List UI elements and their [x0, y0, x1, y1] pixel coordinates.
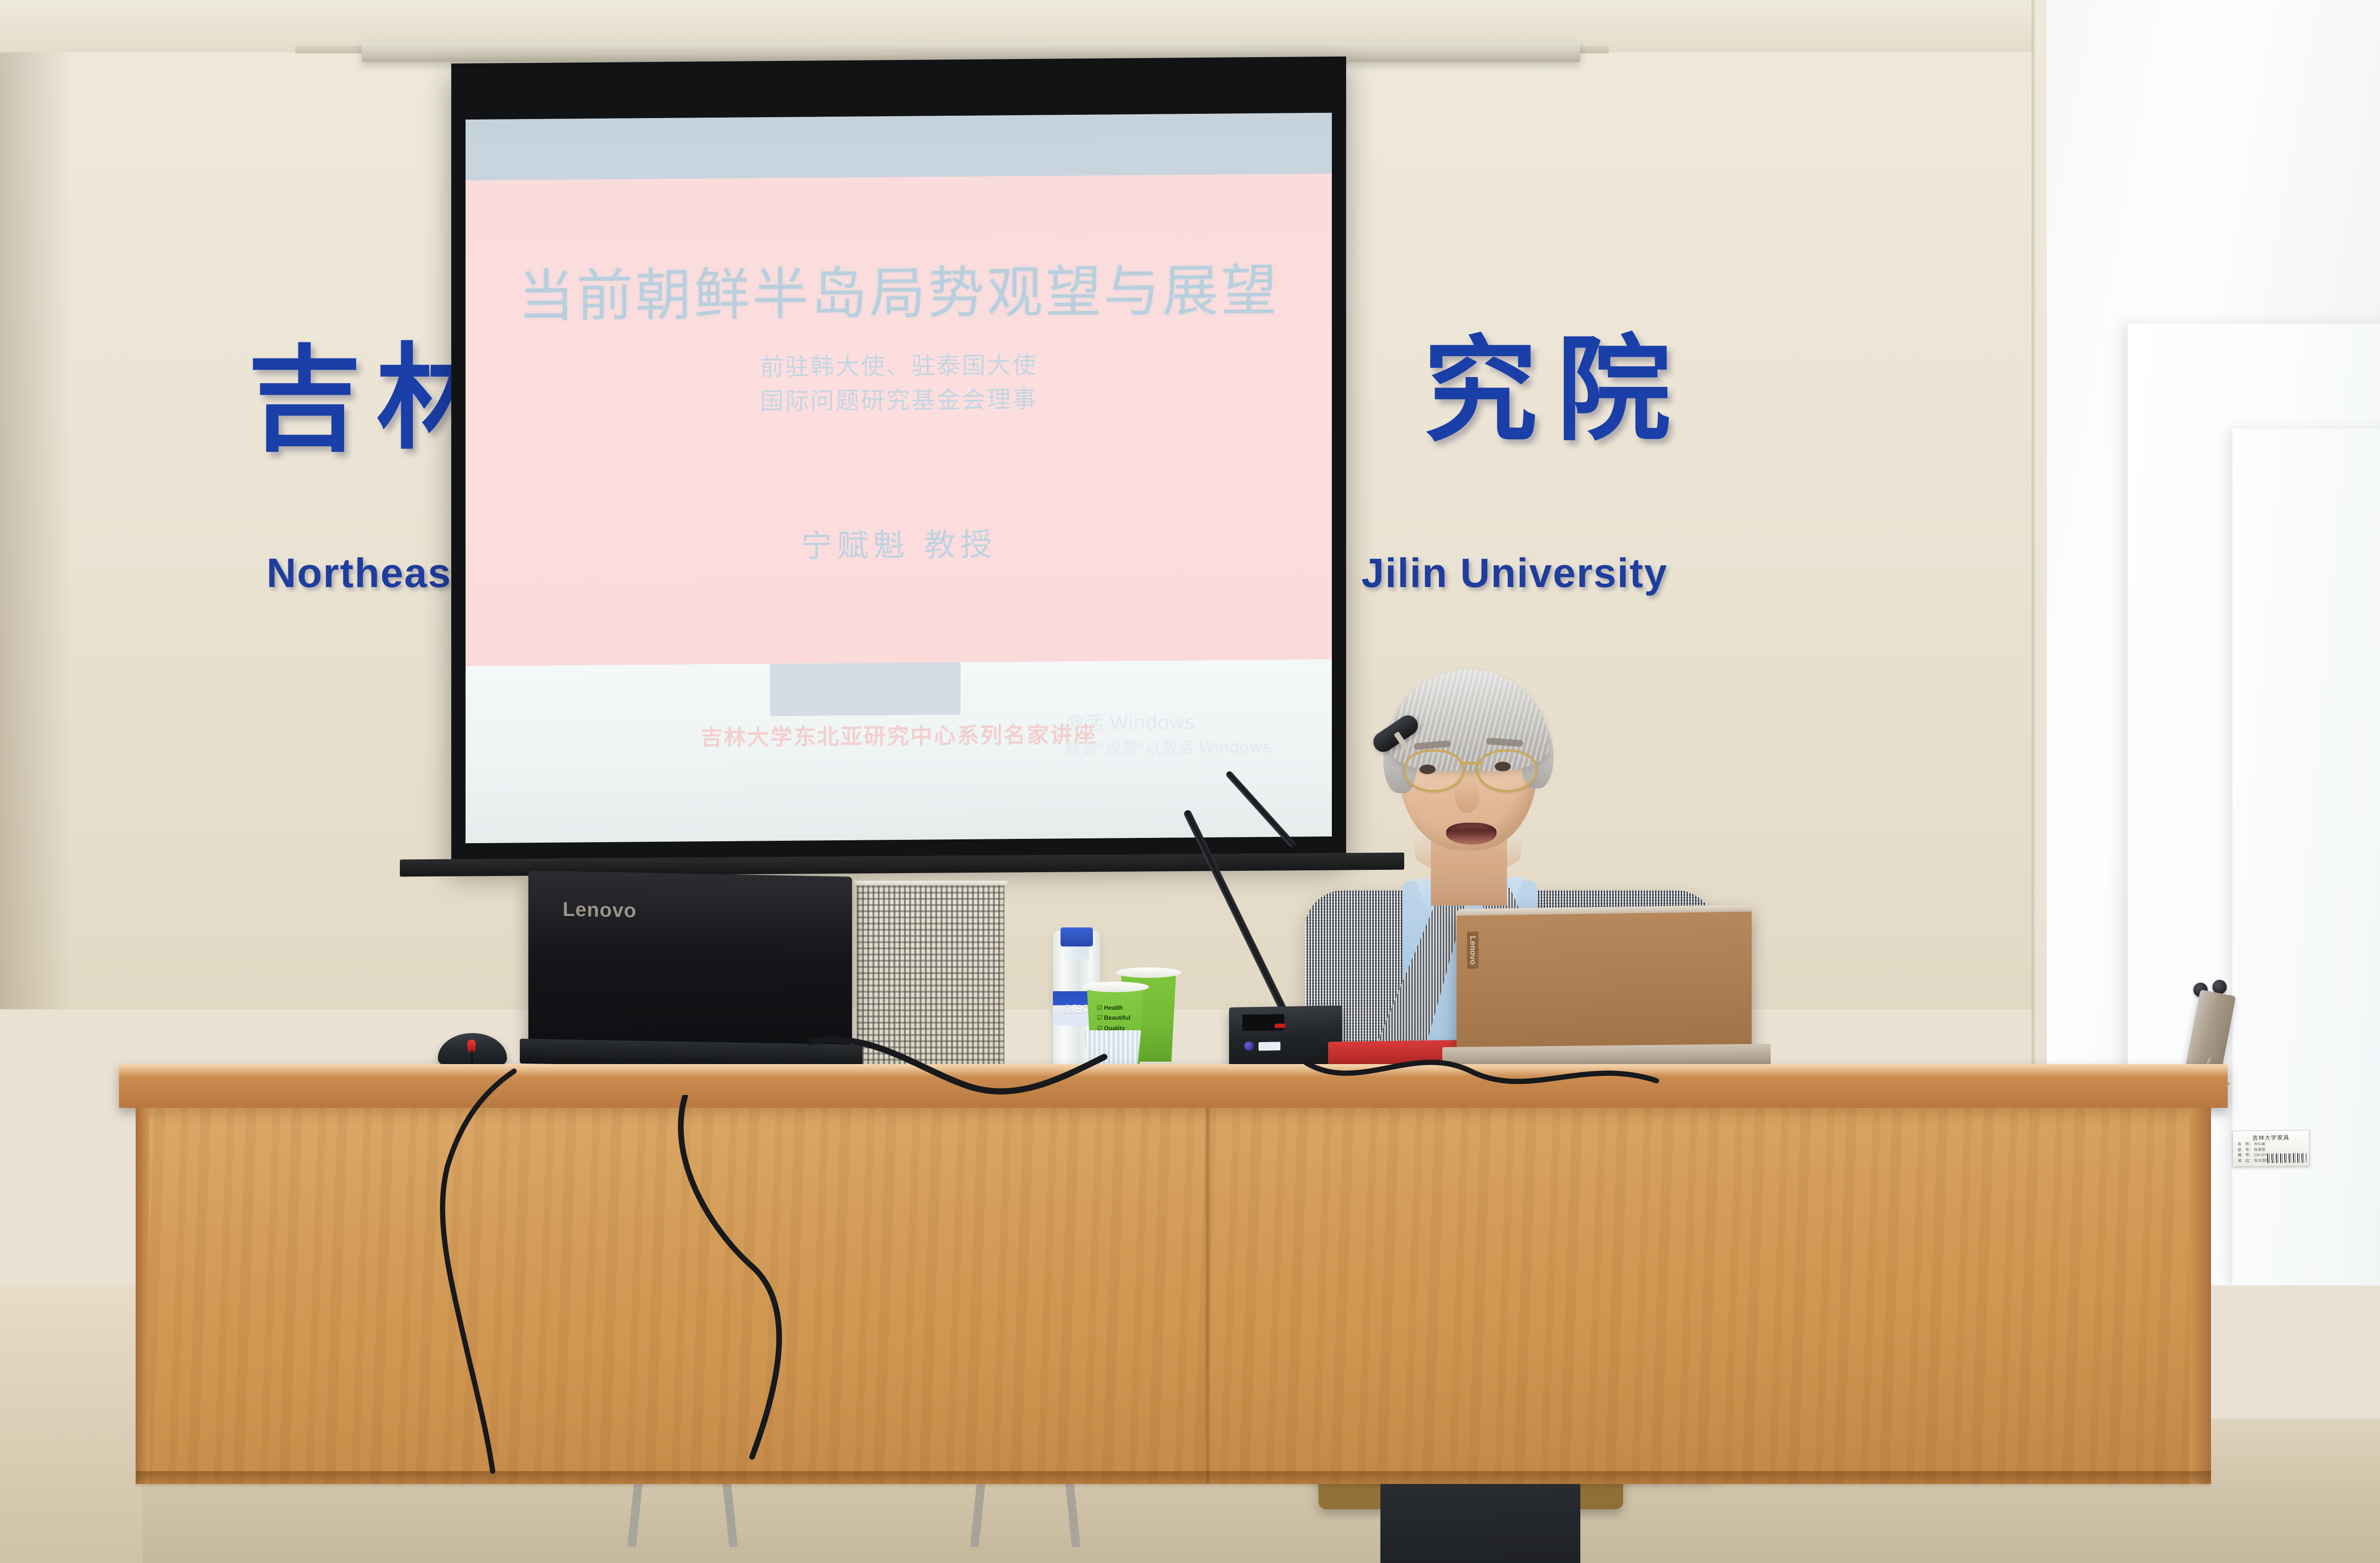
lenovo-logo-open: Lenovo	[1467, 932, 1478, 969]
desk-panel-seam	[1204, 1108, 1211, 1484]
glasses-lens-left	[1403, 749, 1464, 792]
mic-base-panel	[1242, 1014, 1284, 1031]
watermark-line-1: 激活 Windows	[1065, 708, 1271, 737]
paper-cup-front-rim	[1081, 982, 1149, 992]
furniture-asset-tag: 吉林大学家具 名 称： 办公桌 型 号： 标准型 编 号： CN-2279 单 …	[2232, 1130, 2310, 1167]
floor-left	[0, 1285, 143, 1563]
wall-english-right: Jilin University	[1361, 550, 1668, 597]
windows-activation-watermark: 激活 Windows 转到"设置"以激活 Windows	[1065, 708, 1271, 761]
slide-speaker-name: 宁赋魁 教授	[466, 517, 1332, 569]
bottle-cap[interactable]	[1061, 927, 1093, 946]
slide-subtitle-line2: 国际问题研究基金会理事	[466, 380, 1332, 421]
desk-drop-cable	[657, 1095, 904, 1466]
projected-slide: 当前朝鲜半岛局势观望与展望 前驻韩大使、驻泰国大使 国际问题研究基金会理事 宁赋…	[466, 113, 1332, 843]
slide-band-top	[466, 113, 1332, 180]
mic-cable	[1304, 1028, 1666, 1114]
asset-tag-row-1: 型 号： 标准型	[2238, 1146, 2277, 1152]
projection-screen: 当前朝鲜半岛局势观望与展望 前驻韩大使、驻泰国大使 国际问题研究基金会理事 宁赋…	[451, 57, 1346, 864]
paper-cup-back-rim	[1116, 967, 1181, 978]
bottle-brand-text: 泉阳泉	[1063, 1002, 1090, 1015]
chin	[1415, 835, 1521, 873]
cup-line-1: ☑ Beautiful	[1097, 1013, 1130, 1023]
slide-subtitle-line1: 前驻韩大使、驻泰国大使	[466, 346, 1332, 387]
mic-talk-button[interactable]	[1244, 1041, 1254, 1051]
desk-right-edge	[2190, 1108, 2211, 1484]
glasses-bridge	[1459, 762, 1482, 765]
desk-left-edge	[136, 1108, 149, 1484]
asset-tag-barcode	[2267, 1153, 2306, 1163]
watermark-line-2: 转到"设置"以激活 Windows	[1065, 736, 1271, 761]
slide-grey-box	[770, 662, 961, 716]
nose	[1455, 779, 1479, 813]
lenovo-logo-closed: Lenovo	[563, 898, 636, 922]
closed-laptop[interactable]: Lenovo	[528, 870, 852, 1067]
mic-status-led	[1275, 1024, 1285, 1028]
bottle-neck	[1064, 946, 1089, 959]
mic-base-sticker	[1259, 1042, 1280, 1051]
glasses-lens-right	[1477, 749, 1537, 792]
asset-tag-row-0: 名 称： 办公桌	[2238, 1141, 2277, 1147]
lecture-hall-scene: 吉 林 大 学 东 北 亚 研 究 院 Northeast Asian Stud…	[0, 0, 2380, 1563]
slide-title: 当前朝鲜半岛局势观望与展望	[466, 244, 1332, 332]
projector-screen-housing	[362, 42, 1580, 62]
wall-shadow	[0, 0, 71, 1009]
cup-line-0: ☑ Health	[1097, 1003, 1130, 1013]
